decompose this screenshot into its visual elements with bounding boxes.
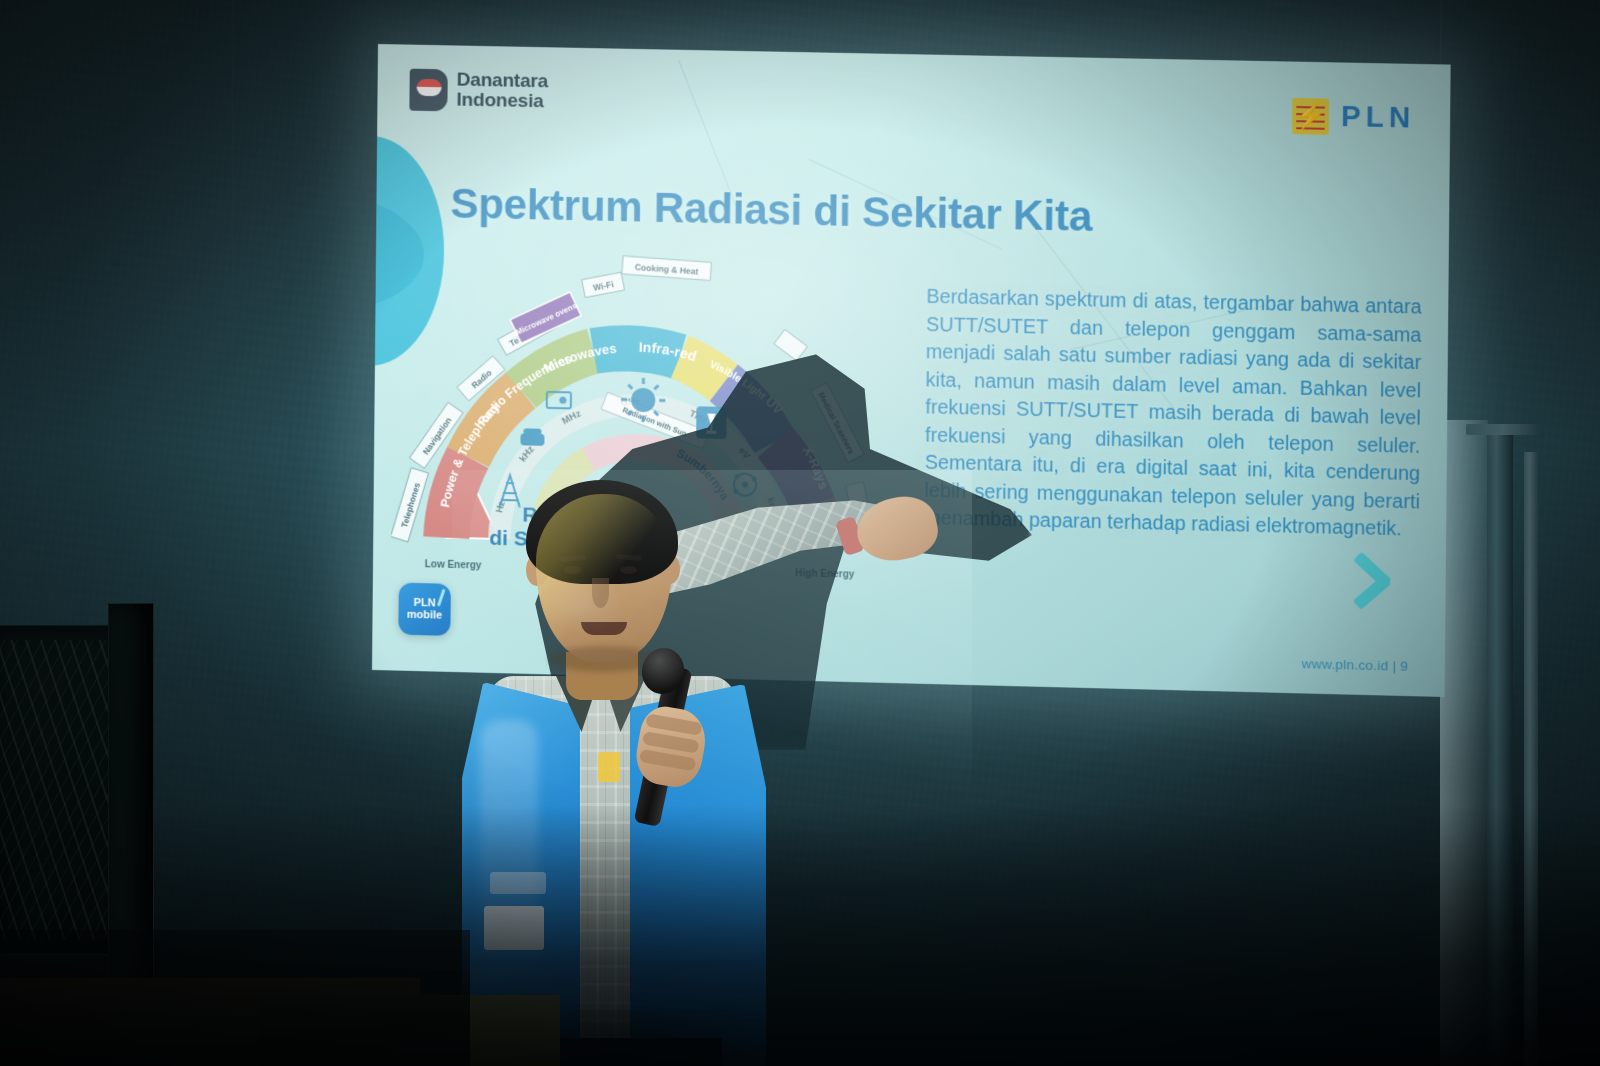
page-title: Spektrum Radiasi di Sekitar Kita — [450, 180, 1092, 241]
pln-mobile-line2: mobile — [407, 609, 443, 622]
plastic-wrap-texture — [0, 640, 116, 940]
pole-crossbar — [1466, 424, 1540, 435]
slide-footer: www.pln.co.id | 9 — [1302, 656, 1409, 674]
pln-mobile-line1: PLN — [414, 597, 436, 610]
danantara-flag-mark-icon — [409, 69, 447, 112]
pln-logo: ⚡ PLN — [1292, 98, 1416, 137]
danantara-name-line2: Indonesia — [456, 91, 548, 113]
pln-mobile-app-icon: PLN mobile — [398, 583, 451, 636]
pln-lightning-bolt-icon: ⚡ — [1292, 98, 1329, 135]
foreground-dark-mass — [0, 930, 470, 1066]
chevron-right-icon — [1347, 547, 1405, 617]
pln-logo-text: PLN — [1341, 100, 1416, 135]
danantara-logo: Danantara Indonesia — [409, 69, 548, 114]
danantara-logo-text: Danantara Indonesia — [456, 71, 548, 113]
vest-badge — [598, 752, 620, 782]
telephone-icon — [520, 428, 544, 446]
photo-scene: Danantara Indonesia ⚡ PLN Spektrum Radia… — [0, 0, 1600, 1066]
projected-light-on-face — [536, 494, 672, 662]
